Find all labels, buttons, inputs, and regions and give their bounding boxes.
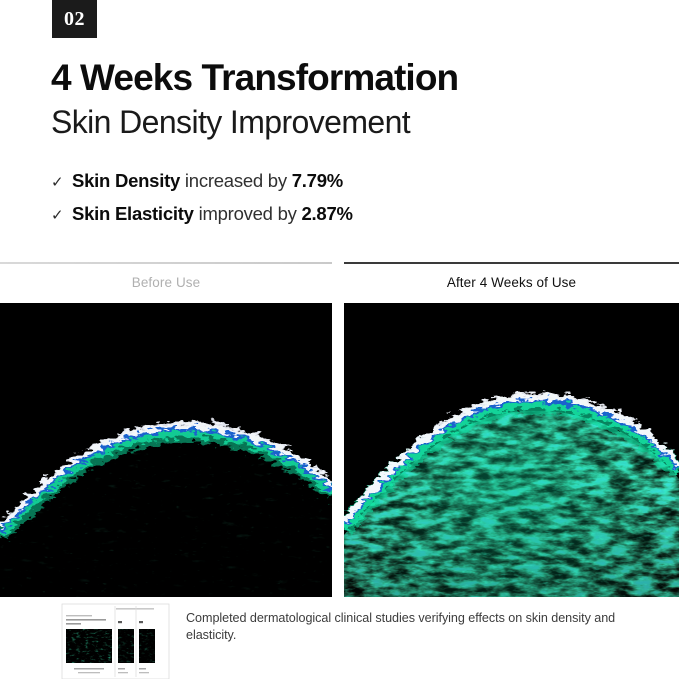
benefit-verb: improved by bbox=[194, 203, 302, 224]
after-label: After 4 Weeks of Use bbox=[344, 275, 679, 290]
benefit-metric: Skin Elasticity bbox=[72, 203, 194, 224]
benefit-value: 7.79% bbox=[292, 170, 343, 191]
section-number: 02 bbox=[64, 8, 85, 31]
benefit-metric: Skin Density bbox=[72, 170, 180, 191]
benefit-value: 2.87% bbox=[302, 203, 353, 224]
page-title: 4 Weeks Transformation bbox=[51, 58, 458, 98]
list-item: ✓ Skin Elasticity improved by 2.87% bbox=[51, 203, 551, 236]
before-ultrasound-image bbox=[0, 303, 332, 597]
after-divider-rule bbox=[344, 262, 679, 264]
after-ultrasound-image bbox=[344, 303, 679, 597]
clinical-study-document-thumbnail[interactable] bbox=[58, 601, 173, 679]
section-number-badge: 02 bbox=[52, 0, 97, 38]
list-item: ✓ Skin Density increased by 7.79% bbox=[51, 170, 551, 203]
footer-caption: Completed dermatological clinical studie… bbox=[186, 610, 656, 645]
benefit-verb: increased by bbox=[180, 170, 292, 191]
before-label: Before Use bbox=[0, 275, 332, 290]
benefit-text: Skin Elasticity improved by 2.87% bbox=[72, 203, 353, 225]
before-divider-rule bbox=[0, 262, 332, 264]
check-icon: ✓ bbox=[51, 175, 72, 190]
benefits-list: ✓ Skin Density increased by 7.79% ✓ Skin… bbox=[51, 170, 551, 236]
comparison-header: Before Use After 4 Weeks of Use bbox=[0, 262, 679, 302]
page-subtitle: Skin Density Improvement bbox=[51, 105, 410, 140]
benefit-text: Skin Density increased by 7.79% bbox=[72, 170, 343, 192]
check-icon: ✓ bbox=[51, 208, 72, 223]
